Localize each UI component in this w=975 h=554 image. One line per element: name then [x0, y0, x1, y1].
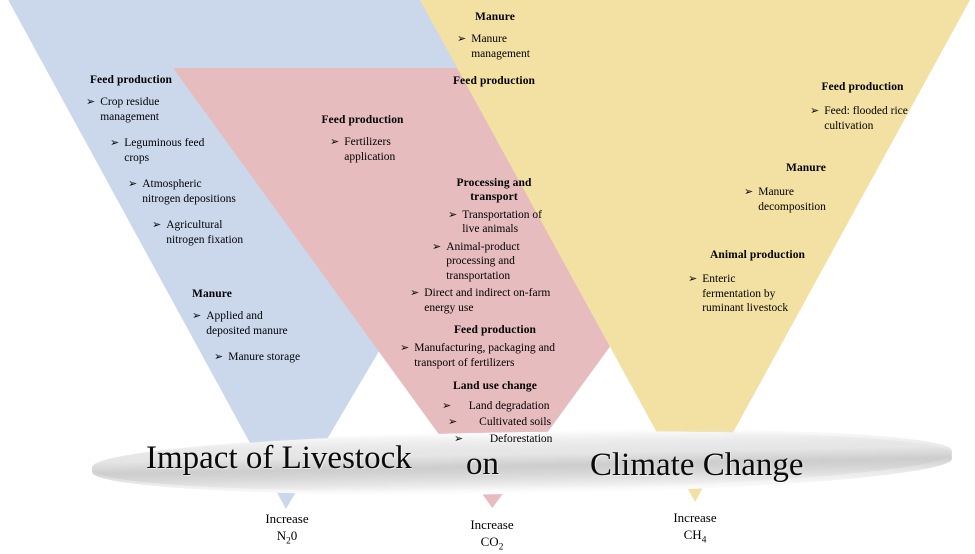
center-feed-production-block: Feed production [448, 75, 540, 89]
arrow-bullet-icon: ➢ [442, 399, 451, 413]
page-title-part3: Climate Change [590, 447, 804, 484]
outcome-formula-co2: CO2 [432, 534, 552, 554]
list-item: ➢ Feed: flooded rice cultivation [810, 104, 930, 133]
arrow-bullet-icon: ➢ [744, 185, 753, 199]
arrow-bullet-icon: ➢ [128, 177, 137, 191]
arrow-bullet-icon: ➢ [330, 135, 339, 149]
page-title-part1: Impact of Livestock [146, 440, 412, 477]
n2o-feed-production-block: Feed production ➢ Crop residue managemen… [56, 73, 206, 247]
ch4-animal-production-block: Animal production ➢ Enteric fermentation… [680, 248, 860, 316]
list-item: ➢ Crop residue management [86, 95, 204, 124]
arrow-bullet-icon: ➢ [86, 95, 95, 109]
n2o-manure-block: Manure ➢ Applied and deposited manure ➢ … [152, 287, 312, 365]
co2-block: Processing and transport ➢ Transportatio… [400, 177, 590, 446]
group-heading: Animal production [680, 248, 835, 262]
arrow-bullet-icon: ➢ [810, 104, 819, 118]
list-item: ➢ Applied and deposited manure [192, 309, 302, 338]
arrow-bullet-icon: ➢ [400, 341, 409, 355]
overlap-n2o-co2-block: Feed production ➢ Fertilizers applicatio… [300, 113, 440, 164]
list-item: ➢ Transportation of live animals [448, 208, 560, 237]
list-item: ➢ Cultivated soils [448, 415, 568, 429]
group-heading: Feed production [300, 113, 425, 127]
list-item: ➢ Atmospheric nitrogen depositions [128, 177, 238, 206]
outcome-formula-n2o: N20 [227, 528, 347, 549]
list-item: ➢ Deforestation [454, 432, 574, 446]
ch4-manure-block: Manure ➢ Manure decomposition [736, 161, 906, 214]
arrow-bullet-icon: ➢ [152, 218, 161, 232]
group-heading: Manure [435, 10, 555, 24]
arrow-bullet-icon: ➢ [214, 350, 223, 364]
arrow-bullet-icon: ➢ [432, 240, 441, 254]
list-item: ➢ Leguminous feed crops [110, 136, 215, 165]
group-heading: Feed production [780, 80, 945, 94]
list-item: ➢ Enteric fermentation by ruminant lives… [688, 272, 796, 315]
group-heading: Feed production [400, 323, 590, 337]
list-item: ➢ Fertilizers application [330, 135, 430, 164]
outcome-label-n2o: Increase N20 [227, 511, 347, 548]
list-item: ➢ Manure storage [214, 350, 334, 364]
page-title-part2: on [466, 446, 499, 483]
outcome-label-ch4: Increase CH4 [635, 510, 755, 547]
arrow-bullet-icon: ➢ [192, 309, 201, 323]
arrow-bullet-icon: ➢ [448, 415, 457, 429]
outcome-label-co2: Increase CO2 [432, 517, 552, 554]
group-heading: Processing and transport [448, 177, 540, 205]
overlap-n2o-ch4-block: Manure ➢ Manure management [435, 10, 555, 61]
group-heading: Feed production [448, 75, 540, 89]
group-heading: Manure [152, 287, 272, 301]
list-item: ➢ Manufacturing, packaging and transport… [400, 341, 590, 370]
diagram-canvas: Feed production ➢ Crop residue managemen… [0, 0, 975, 552]
outcome-formula-ch4: CH4 [635, 527, 755, 548]
list-item: ➢ Manure management [457, 32, 549, 61]
arrow-bullet-icon: ➢ [454, 432, 463, 446]
list-item: ➢ Land degradation [442, 399, 562, 413]
arrow-bullet-icon: ➢ [457, 32, 466, 46]
group-heading: Land use change [400, 379, 590, 393]
group-heading: Manure [736, 161, 876, 175]
arrow-bullet-icon: ➢ [688, 272, 697, 286]
arrow-bullet-icon: ➢ [410, 286, 419, 300]
ch4-feed-production-block: Feed production ➢ Feed: flooded rice cul… [780, 80, 960, 133]
list-item: ➢ Agricultural nitrogen fixation [152, 218, 256, 247]
arrow-bullet-icon: ➢ [110, 136, 119, 150]
list-item: ➢ Manure decomposition [744, 185, 854, 214]
group-heading: Feed production [56, 73, 206, 87]
list-item: ➢ Direct and indirect on-farm energy use [410, 286, 580, 315]
arrow-bullet-icon: ➢ [448, 208, 457, 222]
list-item: ➢ Animal-product processing and transpor… [432, 240, 554, 283]
